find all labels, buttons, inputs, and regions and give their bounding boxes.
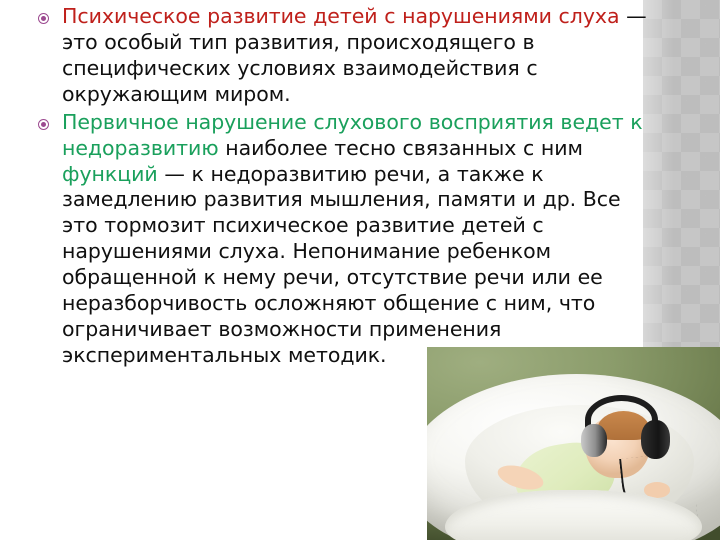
headphone-cup-left xyxy=(581,424,607,457)
body-text: — к недоразвитию речи, а также к замедле… xyxy=(62,162,621,367)
body-text: наиболее тесно связанных с ним xyxy=(219,136,583,160)
presentation-slide: Психическое развитие детей с нарушениями… xyxy=(0,0,720,540)
baby-with-headphones-photo xyxy=(427,347,720,540)
list-item: Психическое развитие детей с нарушениями… xyxy=(34,4,649,108)
paragraph-two: Первичное нарушение слухового восприятия… xyxy=(62,110,649,369)
ring-dot-bullet-icon xyxy=(38,119,49,130)
list-item: Первичное нарушение слухового восприятия… xyxy=(34,110,649,369)
highlight-red-text: Психическое развитие детей с нарушениями… xyxy=(62,4,620,28)
ring-dot-bullet-icon xyxy=(38,13,49,24)
highlight-green-text: функций xyxy=(62,162,158,186)
paragraph-one: Психическое развитие детей с нарушениями… xyxy=(62,4,649,108)
slide-body-text: Психическое развитие детей с нарушениями… xyxy=(34,4,649,371)
